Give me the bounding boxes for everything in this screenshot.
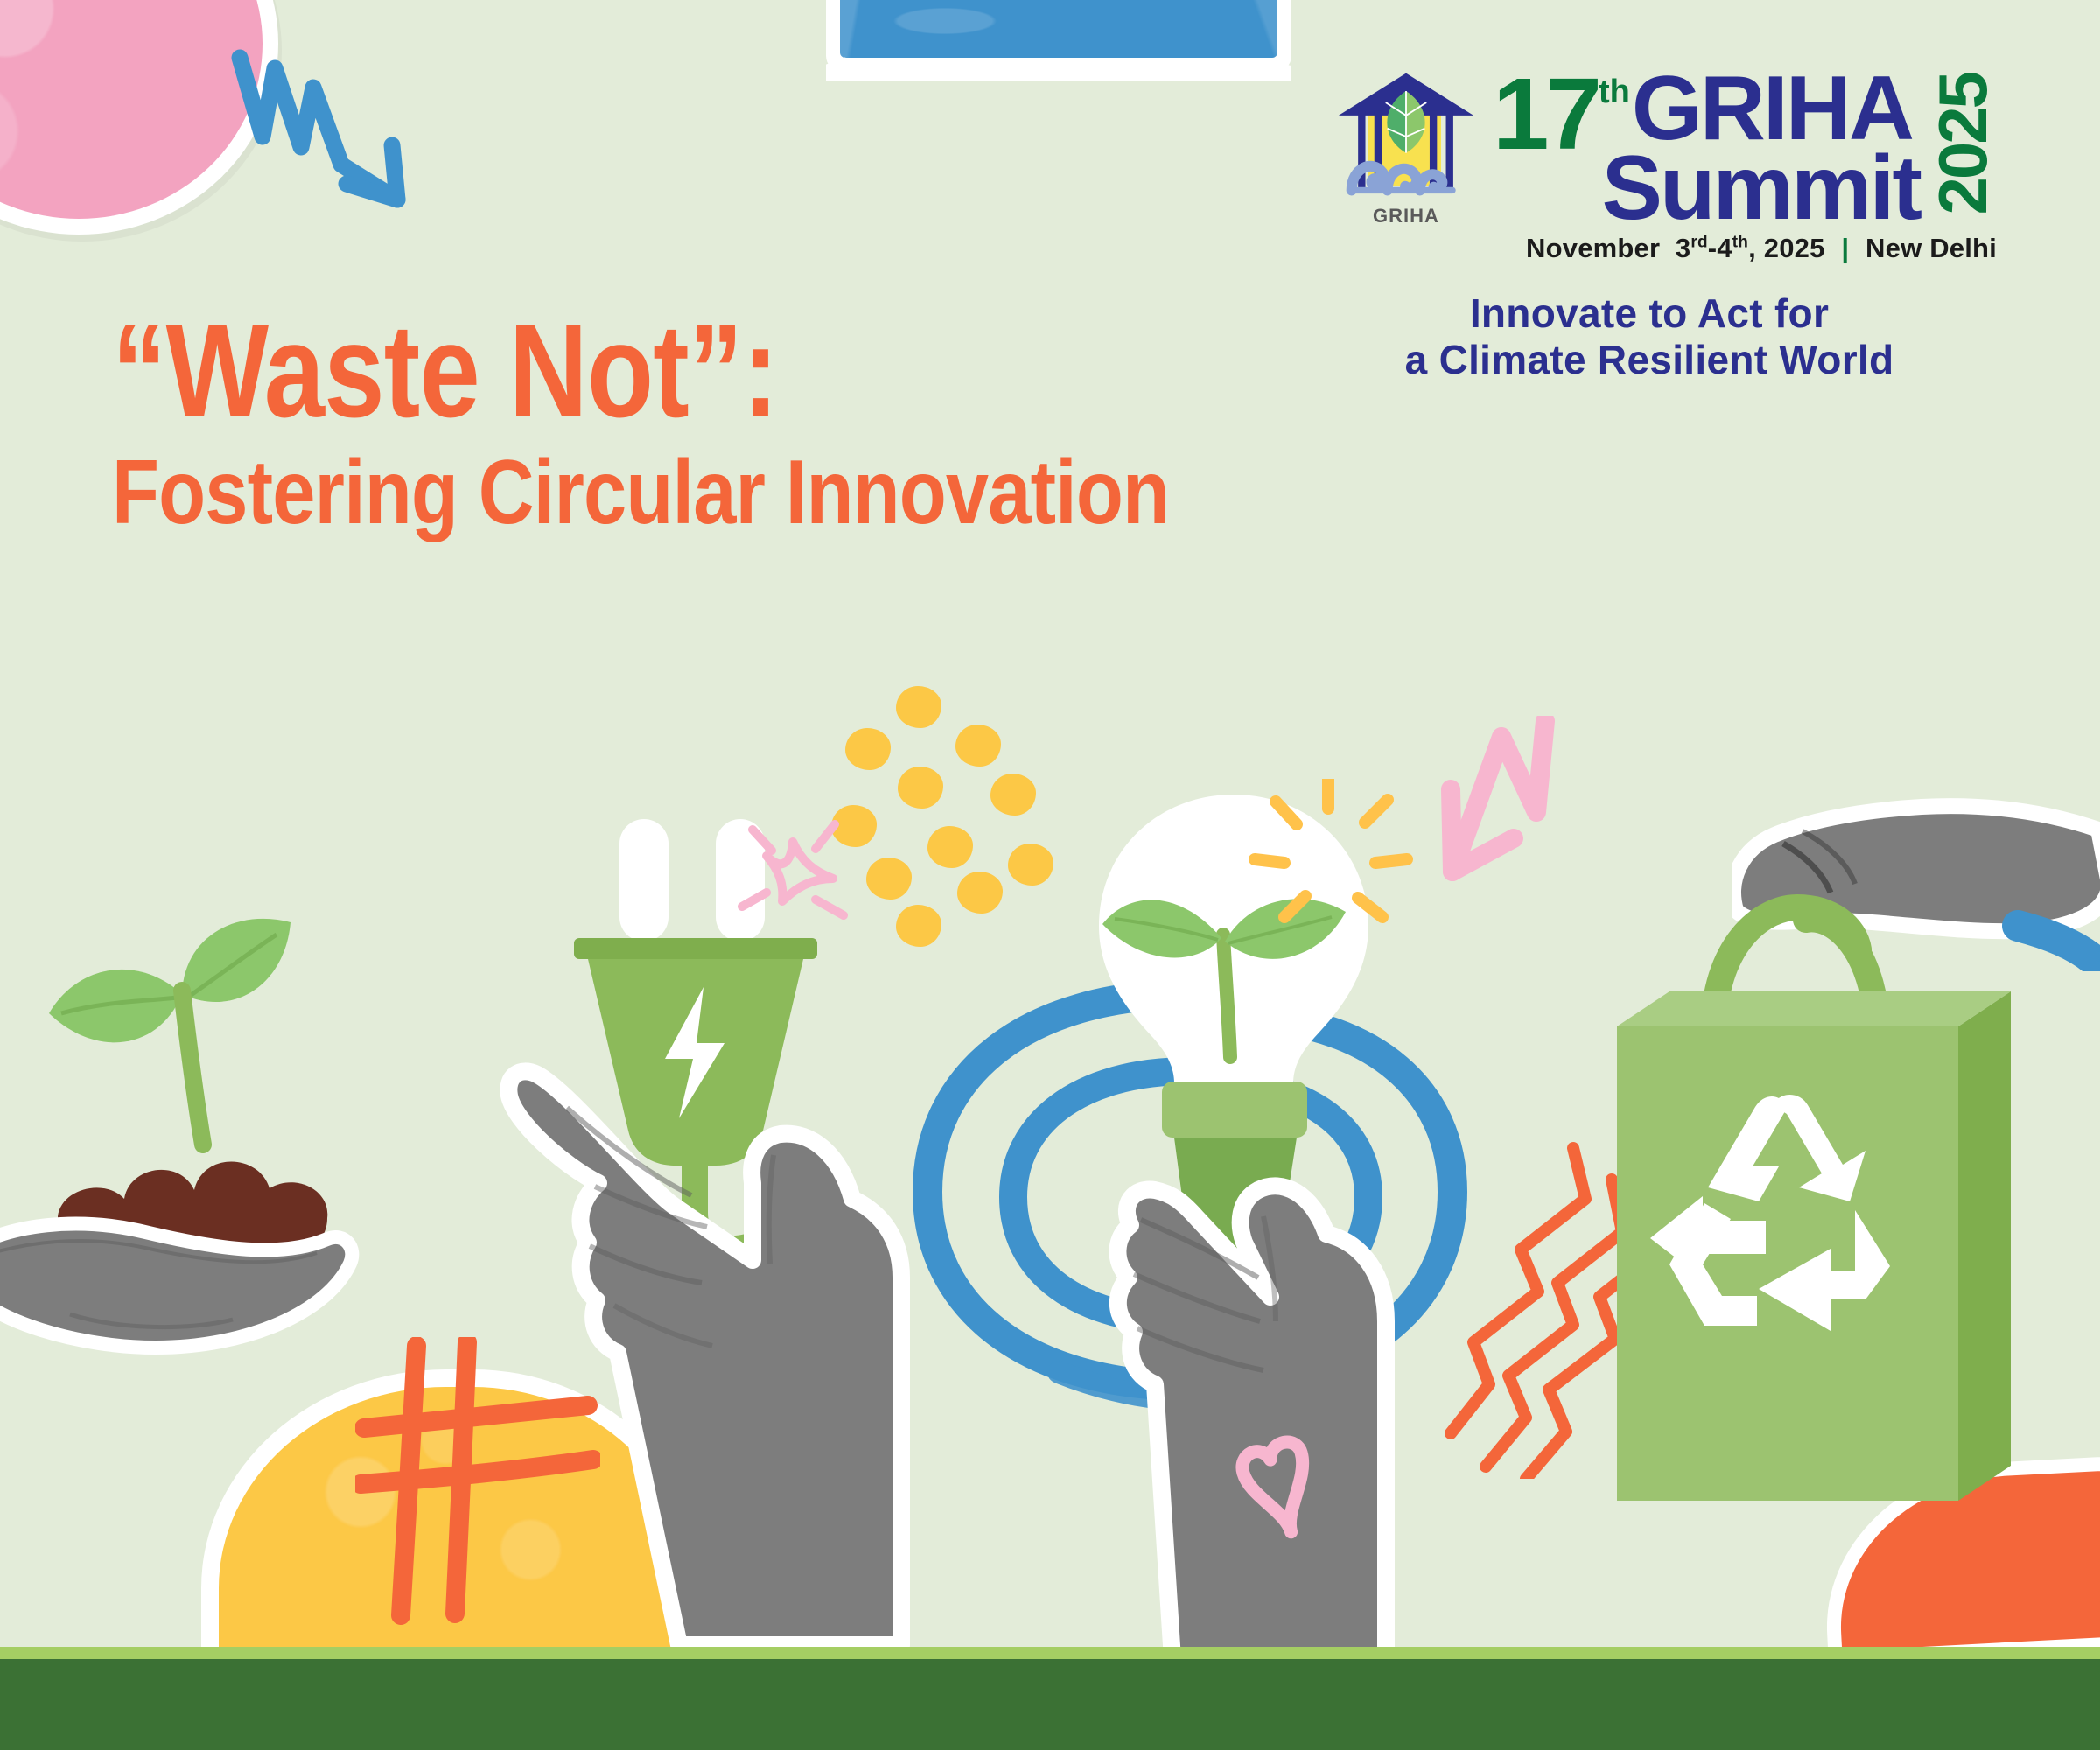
zigzag-arrow-down-left-icon — [1424, 716, 1617, 943]
date-year: 2025 — [1764, 233, 1825, 263]
title-line-1: “Waste Not”: — [112, 308, 1132, 436]
date-day-start: 3 — [1676, 233, 1690, 263]
footer-light-green-stripe — [0, 1647, 2100, 1659]
griha-logo: GRIHA — [1332, 68, 1480, 226]
edition-number: 17 — [1493, 68, 1599, 159]
title-line-2: Fostering Circular Innovation — [112, 443, 1169, 542]
griha-house-leaf-wave-logo — [1332, 68, 1480, 206]
footer-dark-green-bar — [0, 1659, 2100, 1750]
blue-paper-scrap — [840, 0, 1277, 58]
edition-suffix: th — [1599, 75, 1630, 108]
blue-scrap-torn-edge — [826, 51, 1291, 80]
griha-logo-label: GRIHA — [1332, 205, 1480, 227]
lightbulb-sprout-icon — [1050, 779, 1417, 1662]
shopping-bag-icon — [1599, 888, 2089, 1658]
zigzag-arrow-down-right-icon — [226, 42, 479, 217]
dateline-separator: | — [1841, 233, 1849, 263]
summit-lockup: GRIHA 17 th GRIHA Summit 2025 November 3… — [1332, 68, 1997, 384]
event-location: New Delhi — [1865, 233, 1997, 263]
date-day-end: 4 — [1717, 233, 1732, 263]
summit-text-block: 17 th GRIHA Summit 2025 November 3rd-4th… — [1493, 68, 1997, 264]
date-month: November — [1526, 233, 1660, 263]
date-day-end-suffix: th — [1732, 234, 1748, 252]
summit-year: 2025 — [1928, 73, 1997, 215]
date-day-start-suffix: rd — [1690, 234, 1707, 252]
poster-canvas: “Waste Not”: Fostering Circular Innovati… — [0, 0, 2100, 1750]
tagline-line-2: a Climate Resilient World — [1332, 337, 1967, 383]
tagline-line-1: Innovate to Act for — [1332, 290, 1967, 337]
summit-dateline: November 3rd-4th, 2025 | New Delhi — [1493, 233, 1997, 264]
summit-tagline: Innovate to Act for a Climate Resilient … — [1332, 290, 1997, 384]
sprout-in-soil-icon — [0, 910, 429, 1400]
poster-title: “Waste Not”: Fostering Circular Innovati… — [112, 308, 1355, 542]
pink-paper-scrap — [0, 0, 262, 219]
